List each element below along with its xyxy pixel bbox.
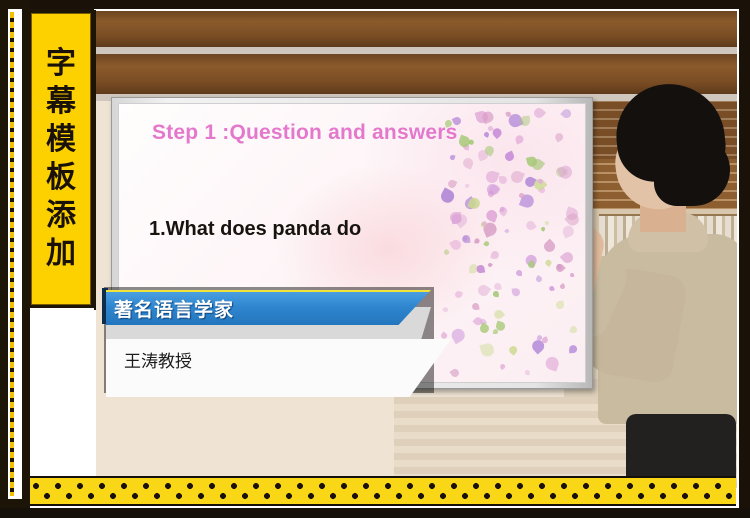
screenshot-root: Step 1 :Question and answers 1.What does…	[0, 0, 750, 518]
caption-ribbon-label: 著名语言学家	[114, 295, 234, 322]
banner-char-0: 字	[46, 47, 76, 81]
frame-top-border	[0, 0, 750, 9]
left-white-area	[26, 308, 94, 496]
banner-char-4: 添	[46, 199, 76, 233]
caption-speaker-name: 王涛教授	[124, 347, 192, 372]
frame-bottom-border	[0, 508, 750, 518]
banner-char-5: 加	[46, 237, 76, 271]
polka-dot-strip	[30, 476, 736, 506]
banner-char-3: 板	[46, 161, 76, 195]
slide-title: Step 1 :Question and answers	[152, 121, 458, 145]
frame-left-dashed-line	[10, 12, 14, 496]
wood-panel-top	[94, 11, 739, 47]
classroom-photo: Step 1 :Question and answers 1.What does…	[94, 9, 739, 490]
polka-dot-row-2	[41, 491, 736, 501]
banner-char-1: 幕	[46, 85, 76, 119]
teacher-hair-back	[654, 136, 730, 206]
frame-right-border	[739, 0, 750, 518]
subtitle-template-banner[interactable]: 字幕模板添加	[31, 13, 91, 305]
banner-outer-frame: 字幕模板添加	[26, 8, 94, 308]
polka-dot-row-1	[30, 481, 736, 491]
banner-char-2: 模	[46, 123, 76, 157]
question-1-line-1: 1.What does panda do	[149, 216, 361, 243]
wood-panel-gap-1	[94, 47, 739, 54]
